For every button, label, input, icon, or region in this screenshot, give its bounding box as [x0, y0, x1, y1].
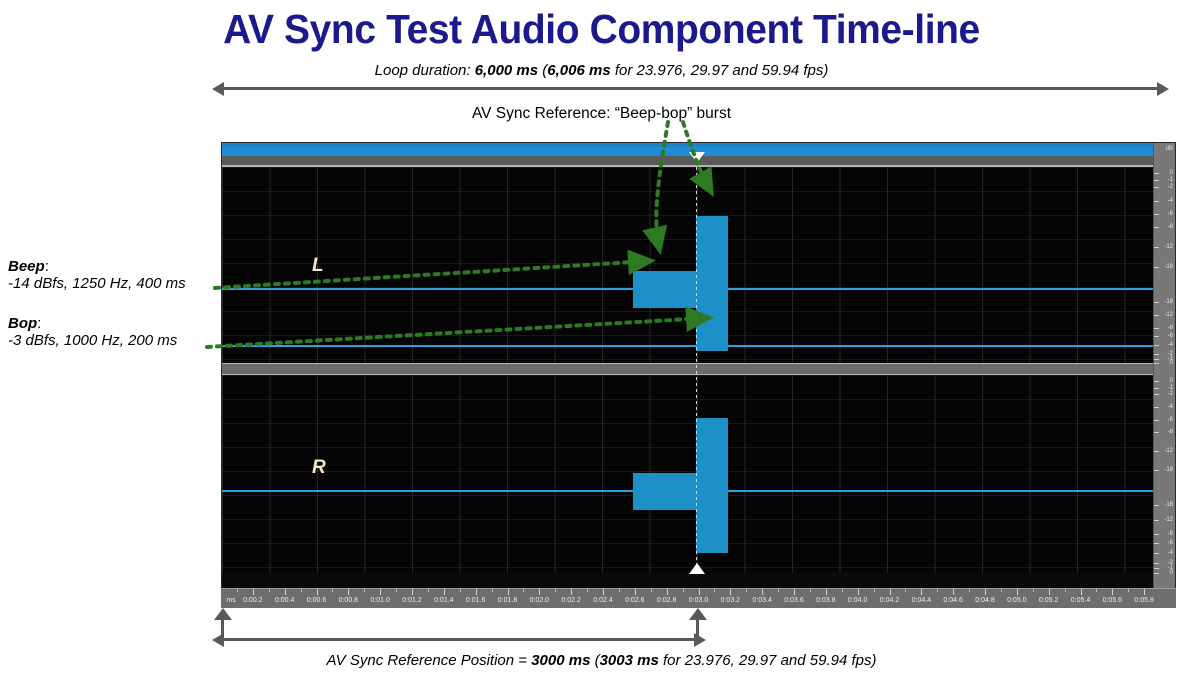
- time-ruler-minor-tick: [905, 589, 906, 592]
- time-ruler-tick: [1017, 589, 1018, 595]
- db-ruler-label: 0: [1170, 570, 1173, 576]
- db-ruler-tick: [1154, 227, 1159, 228]
- db-ruler-tick: [1154, 267, 1159, 268]
- loop-duration-span-arrow: [224, 87, 1157, 90]
- time-ruler-minor-tick: [523, 589, 524, 592]
- time-ruler-minor-tick: [1128, 589, 1129, 592]
- db-ruler-tick: [1154, 420, 1159, 421]
- time-ruler-minor-tick: [492, 589, 493, 592]
- db-ruler-tick: [1154, 173, 1159, 174]
- time-ruler-minor-tick: [778, 589, 779, 592]
- db-ruler-label: -4: [1168, 198, 1173, 204]
- time-ruler-label: 0:03.6: [784, 597, 803, 604]
- db-ruler-label: -4: [1168, 550, 1173, 556]
- db-ruler-label: -4: [1168, 342, 1173, 348]
- time-ruler-label: 0:04.0: [848, 597, 867, 604]
- time-ruler-minor-tick: [651, 589, 652, 592]
- time-ruler-tick: [1081, 589, 1082, 595]
- db-ruler-label: -6: [1168, 211, 1173, 217]
- time-ruler-tick: [1049, 589, 1050, 595]
- time-ruler-minor-tick: [874, 589, 875, 592]
- db-ruler-tick: [1154, 451, 1159, 452]
- time-ruler-minor-tick: [937, 589, 938, 592]
- time-ruler-tick: [635, 589, 636, 595]
- db-ruler-tick: [1154, 328, 1159, 329]
- time-ruler-label: 0:05.8: [1134, 597, 1153, 604]
- time-ruler-tick: [699, 589, 700, 595]
- audio-waveform-editor[interactable]: L R dB0-1-2-4-6-8-12-18-18-12-8-6-4-2-10…: [221, 142, 1176, 594]
- time-ruler-tick: [539, 589, 540, 595]
- time-ruler-minor-tick: [714, 589, 715, 592]
- loop-duration-mid: (: [538, 62, 547, 79]
- db-ruler-label: -4: [1168, 404, 1173, 410]
- beep-name: Beep: [8, 258, 45, 275]
- bop-name: Bop: [8, 315, 37, 332]
- marker-start-arrow-icon: [214, 608, 232, 620]
- db-ruler-label: -8: [1168, 429, 1173, 435]
- footer-suffix: for 23.976, 29.97 and 59.94 fps): [659, 652, 877, 669]
- db-ruler-tick: [1154, 302, 1159, 303]
- time-ruler-tick: [317, 589, 318, 595]
- time-ruler-tick: [794, 589, 795, 595]
- db-ruler-tick: [1154, 336, 1159, 337]
- beep-annotation: Beep: -14 dBfs, 1250 Hz, 400 ms: [8, 258, 186, 292]
- time-ruler-minor-tick: [746, 589, 747, 592]
- db-ruler-label: -18: [1164, 502, 1173, 508]
- db-ruler-label: -6: [1168, 417, 1173, 423]
- bop-colon: :: [37, 315, 41, 332]
- time-ruler-minor-tick: [396, 589, 397, 592]
- time-ruler-minor-tick: [269, 589, 270, 592]
- time-ruler-label: 0:05.6: [1103, 597, 1122, 604]
- db-ruler-tick: [1154, 553, 1159, 554]
- time-ruler-tick: [953, 589, 954, 595]
- time-ruler-minor-tick: [1096, 589, 1097, 592]
- time-ruler-tick: [253, 589, 254, 595]
- waveform-block-beep-left: [633, 271, 696, 308]
- time-ruler-label: 0:03.8: [816, 597, 835, 604]
- db-ruler-tick: [1154, 407, 1159, 408]
- page-title: AV Sync Test Audio Component Time-line: [30, 6, 1173, 53]
- db-ruler-tick: [1154, 394, 1159, 395]
- footer-prefix: AV Sync Reference Position =: [327, 652, 532, 669]
- time-ruler-label: 0:04.6: [943, 597, 962, 604]
- loop-duration-prefix: Loop duration:: [375, 62, 475, 79]
- time-ruler-tick: [285, 589, 286, 595]
- db-ruler-tick: [1154, 573, 1159, 574]
- time-ruler-label: 0:05.0: [1007, 597, 1026, 604]
- time-ruler-minor-tick: [683, 589, 684, 592]
- db-ruler-label: 0: [1170, 360, 1173, 366]
- time-ruler-label: 0:00.6: [307, 597, 326, 604]
- db-ruler-tick: [1154, 470, 1159, 471]
- footer-value-ntsc: 3003 ms: [600, 652, 659, 669]
- db-ruler-tick: [1154, 563, 1159, 564]
- time-ruler-minor-tick: [842, 589, 843, 592]
- time-ruler-label: 0:04.2: [880, 597, 899, 604]
- db-ruler-tick: [1154, 432, 1159, 433]
- time-ruler-minor-tick: [969, 589, 970, 592]
- time-ruler-tick: [571, 589, 572, 595]
- db-ruler-tick: [1154, 187, 1159, 188]
- loop-duration-value: 6,000 ms: [475, 62, 538, 79]
- time-ruler-tick: [1112, 589, 1113, 595]
- time-ruler-tick: [412, 589, 413, 595]
- db-ruler-label: -1: [1168, 177, 1173, 183]
- footer-value: 3000 ms: [531, 652, 590, 669]
- time-ruler-label: 0:05.2: [1039, 597, 1058, 604]
- time-ruler-minor-tick: [587, 589, 588, 592]
- db-ruler-tick: [1154, 214, 1159, 215]
- time-ruler-label: 0:02.8: [657, 597, 676, 604]
- beep-colon: :: [45, 258, 49, 275]
- db-scale-ruler: dB0-1-2-4-6-8-12-18-18-12-8-6-4-2-100-1-…: [1153, 143, 1175, 595]
- time-ruler-label: 0:02.2: [561, 597, 580, 604]
- time-ruler-minor-tick: [1001, 589, 1002, 592]
- time-ruler-minor-tick: [619, 589, 620, 592]
- bop-annotation: Bop: -3 dBfs, 1000 Hz, 200 ms: [8, 315, 177, 349]
- playhead-line[interactable]: [696, 167, 697, 573]
- db-ruler-label: -18: [1164, 264, 1173, 270]
- footer-mid: (: [590, 652, 599, 669]
- time-ruler-label: 0:05.4: [1071, 597, 1090, 604]
- db-ruler-label: -18: [1164, 467, 1173, 473]
- screenshot-root: AV Sync Test Audio Component Time-line L…: [0, 0, 1203, 682]
- time-ruler-label: 0:00.2: [243, 597, 262, 604]
- time-ruler-minor-tick: [1033, 589, 1034, 592]
- db-ruler-tick: [1154, 315, 1159, 316]
- time-ruler-label: 0:01.6: [466, 597, 485, 604]
- db-ruler-label: -8: [1168, 224, 1173, 230]
- time-ruler-tick: [826, 589, 827, 595]
- time-ruler-label: 0:03.2: [721, 597, 740, 604]
- time-ruler-minor-tick: [332, 589, 333, 592]
- db-ruler-tick: [1154, 180, 1159, 181]
- time-ruler-label: 0:02.0: [530, 597, 549, 604]
- db-ruler-label: -12: [1164, 517, 1173, 523]
- reference-position-span-arrow: [224, 638, 694, 641]
- db-ruler-tick: [1154, 543, 1159, 544]
- loop-duration-value-ntsc: 6,006 ms: [547, 62, 610, 79]
- time-ruler-tick: [730, 589, 731, 595]
- time-ruler-label: 0:01.0: [370, 597, 389, 604]
- waveform-block-bop-right: [696, 418, 728, 553]
- db-ruler-tick: [1154, 345, 1159, 346]
- time-ruler-tick: [603, 589, 604, 595]
- arrow-left-head-icon: [212, 82, 224, 96]
- db-ruler-tick: [1154, 247, 1159, 248]
- beep-detail: -14 dBfs, 1250 Hz, 400 ms: [8, 275, 186, 292]
- time-ruler-label: 0:02.6: [625, 597, 644, 604]
- channel-pane-right[interactable]: R: [222, 375, 1175, 573]
- time-ruler-tick: [858, 589, 859, 595]
- db-ruler-label: -12: [1164, 244, 1173, 250]
- time-ruler-tick: [890, 589, 891, 595]
- time-ruler-tick: [667, 589, 668, 595]
- channel-label-right: R: [312, 457, 326, 479]
- db-ruler-label: -1: [1168, 385, 1173, 391]
- channel-pane-left[interactable]: L: [222, 167, 1175, 363]
- db-ruler-label: -2: [1168, 184, 1173, 190]
- reference-position-caption: AV Sync Reference Position = 3000 ms (30…: [0, 652, 1203, 669]
- time-ruler-label: 0:01.4: [434, 597, 453, 604]
- time-ruler-minor-tick: [555, 589, 556, 592]
- time-ruler-label: 0:00.4: [275, 597, 294, 604]
- loop-duration-caption: Loop duration: 6,000 ms (6,006 ms for 23…: [0, 62, 1203, 79]
- time-ruler-label: 0:03.0: [689, 597, 708, 604]
- db-ruler-label: -8: [1168, 531, 1173, 537]
- av-sync-reference-caption: AV Sync Reference: “Beep-bop” burst: [0, 105, 1203, 123]
- time-ruler-tick: [985, 589, 986, 595]
- time-ruler-label: 0:00.8: [339, 597, 358, 604]
- time-ruler-tick: [762, 589, 763, 595]
- time-ruler-minor-tick: [460, 589, 461, 592]
- waveform-block-bop-left: [696, 216, 728, 351]
- arrow-right-head-icon: [694, 633, 706, 647]
- playhead-marker-bottom-icon[interactable]: [689, 563, 705, 574]
- db-ruler-label: 0: [1170, 378, 1173, 384]
- time-ruler-tick: [508, 589, 509, 595]
- timeline-ruler[interactable]: ms0:00.20:00.40:00.60:00.80:01.00:01.20:…: [221, 588, 1176, 608]
- db-ruler-label: -12: [1164, 448, 1173, 454]
- time-ruler-label: 0:01.2: [402, 597, 421, 604]
- db-ruler-tick: [1154, 568, 1159, 569]
- db-ruler-tick: [1154, 354, 1159, 355]
- playhead-marker-top-icon[interactable]: [689, 152, 705, 163]
- db-ruler-tick: [1154, 534, 1159, 535]
- loop-duration-suffix: for 23.976, 29.97 and 59.94 fps): [611, 62, 829, 79]
- marker-reference-arrow-icon: [689, 608, 707, 620]
- channel-divider: [222, 363, 1175, 375]
- db-ruler-tick: [1154, 201, 1159, 202]
- time-ruler-minor-tick: [428, 589, 429, 592]
- db-ruler-label: -2: [1168, 391, 1173, 397]
- time-ruler-minor-tick: [237, 589, 238, 592]
- db-ruler-tick: [1154, 381, 1159, 382]
- db-ruler-tick: [1154, 520, 1159, 521]
- time-ruler-label: 0:04.8: [975, 597, 994, 604]
- db-ruler-label: -6: [1168, 333, 1173, 339]
- bop-detail: -3 dBfs, 1000 Hz, 200 ms: [8, 332, 177, 349]
- db-ruler-tick: [1154, 363, 1159, 364]
- time-ruler-label: 0:02.4: [593, 597, 612, 604]
- time-ruler-tick: [1144, 589, 1145, 595]
- db-ruler-label: -12: [1164, 312, 1173, 318]
- time-ruler-minor-tick: [810, 589, 811, 592]
- time-ruler-tick: [921, 589, 922, 595]
- db-ruler-tick: [1154, 359, 1159, 360]
- arrow-right-head-icon: [1157, 82, 1169, 96]
- time-ruler-tick: [348, 589, 349, 595]
- waveform-block-beep-right: [633, 473, 696, 510]
- time-ruler-tick: [444, 589, 445, 595]
- db-ruler-unit-label: dB: [1166, 146, 1173, 152]
- db-ruler-label: -8: [1168, 325, 1173, 331]
- arrow-left-head-icon: [212, 633, 224, 647]
- time-ruler-minor-tick: [1065, 589, 1066, 592]
- db-ruler-label: -6: [1168, 540, 1173, 546]
- time-ruler-tick: [476, 589, 477, 595]
- db-ruler-tick: [1154, 388, 1159, 389]
- time-ruler-tick: [380, 589, 381, 595]
- time-ruler-start-label: ms: [226, 597, 235, 604]
- channel-label-left: L: [312, 255, 324, 277]
- db-ruler-label: 0: [1170, 170, 1173, 176]
- db-ruler-label: -18: [1164, 299, 1173, 305]
- time-ruler-label: 0:04.4: [912, 597, 931, 604]
- time-ruler-minor-tick: [301, 589, 302, 592]
- db-ruler-tick: [1154, 505, 1159, 506]
- time-ruler-label: 0:03.4: [752, 597, 771, 604]
- time-ruler-label: 0:01.8: [498, 597, 517, 604]
- time-ruler-minor-tick: [364, 589, 365, 592]
